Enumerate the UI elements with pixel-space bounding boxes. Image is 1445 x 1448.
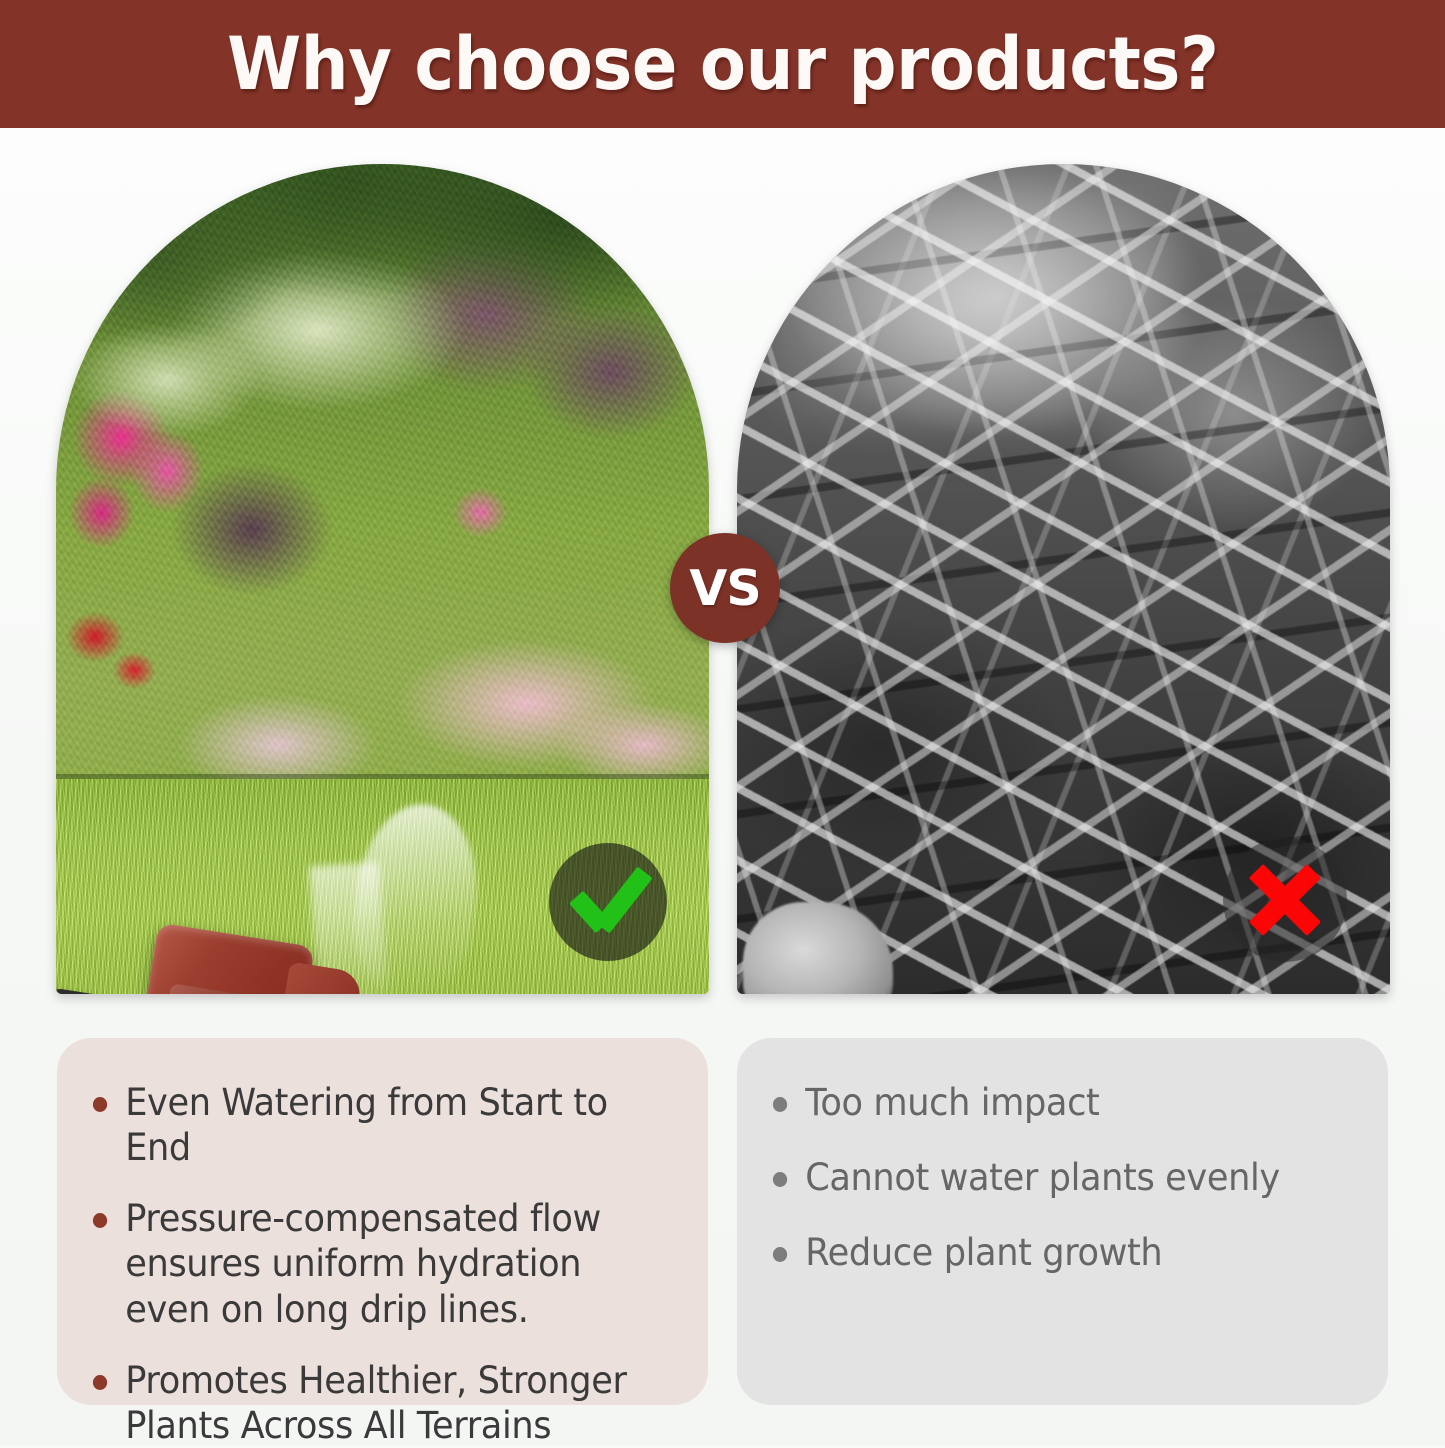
pros-list: Even Watering from Start to End Pressure… [91, 1080, 678, 1448]
infographic-page: Why choose our products? VS [0, 0, 1445, 1445]
list-item: Cannot water plants evenly [771, 1155, 1329, 1200]
page-title: Why choose our products? [227, 28, 1218, 101]
vs-badge: VS [670, 533, 780, 643]
pros-card: Even Watering from Start to End Pressure… [57, 1038, 708, 1405]
red-x-icon [1246, 861, 1324, 939]
positive-status-badge [549, 843, 667, 961]
list-item: Too much impact [771, 1080, 1329, 1125]
header-banner: Why choose our products? [0, 0, 1445, 128]
list-item: Promotes Healthier, Stronger Plants Acro… [91, 1358, 649, 1448]
negative-status-badge [1223, 838, 1347, 962]
straw-highlight-blur [770, 181, 1175, 430]
list-item: Even Watering from Start to End [91, 1080, 649, 1170]
vs-label: VS [689, 564, 760, 613]
cons-card: Too much impact Cannot water plants even… [737, 1038, 1388, 1405]
list-item: Reduce plant growth [771, 1230, 1329, 1275]
green-check-icon [572, 866, 644, 938]
cons-list: Too much impact Cannot water plants even… [771, 1080, 1358, 1275]
list-item: Pressure-compensated flow ensures unifor… [91, 1196, 649, 1331]
